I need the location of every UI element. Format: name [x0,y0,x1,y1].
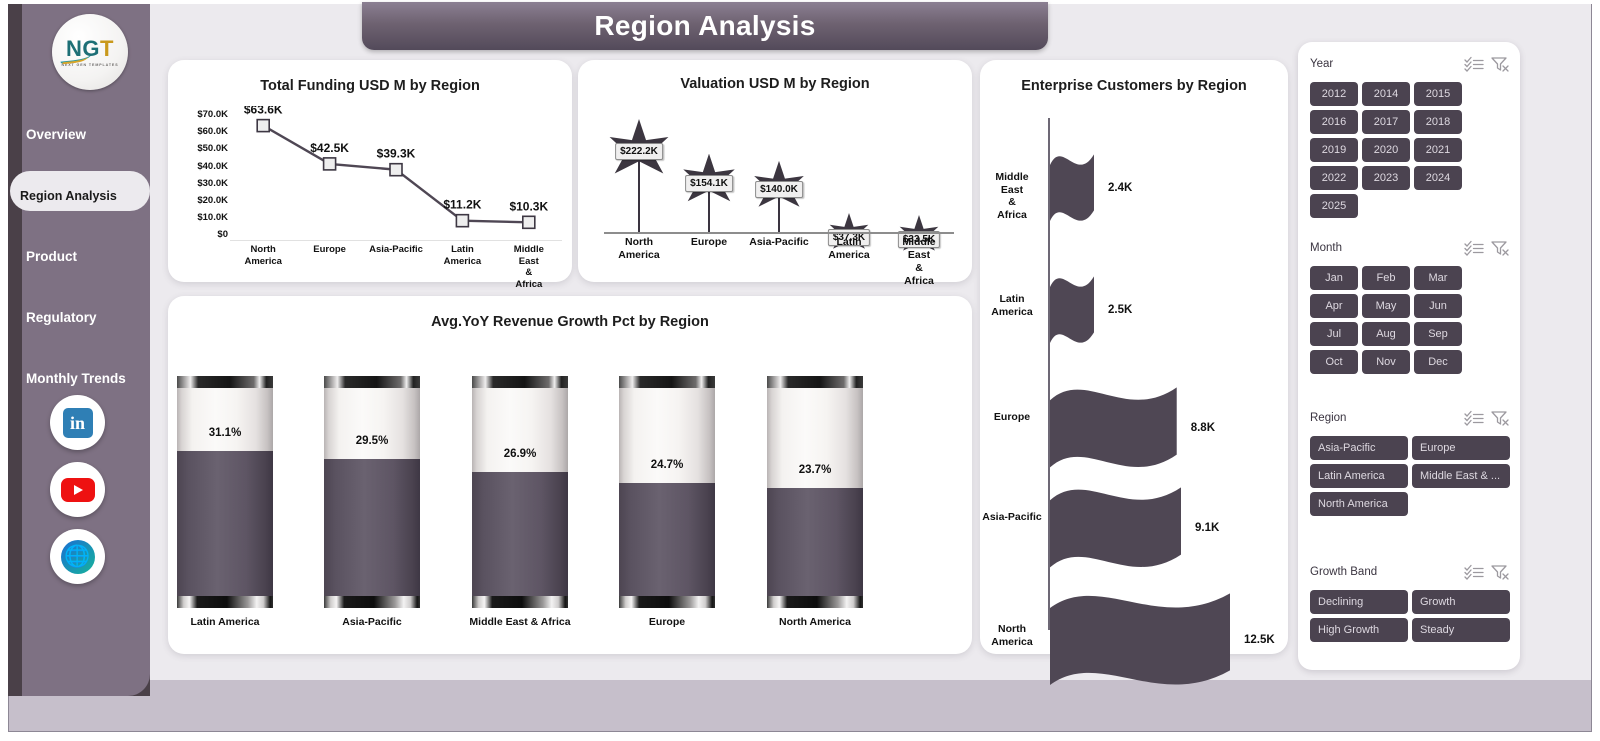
growth-chart-plot: 31.1%Latin America29.5%Asia-Pacific26.9%… [168,354,972,654]
globe-glyph: 🌐 [61,540,95,574]
filter-chip-month[interactable]: Feb [1362,266,1410,290]
flag-bar[interactable] [1050,481,1181,577]
cylinder-cap-bottom [324,596,420,608]
data-label: 29.5% [324,435,420,447]
filter-chip-month[interactable]: Jun [1414,294,1462,318]
linkedin-icon[interactable]: in [50,395,105,450]
cylinder-cap-top [619,376,715,388]
linkedin-glyph: in [63,408,93,438]
slicer-title: Growth Band [1310,566,1458,578]
filter-chip-year[interactable]: 2021 [1414,138,1462,162]
data-label: $11.2K [443,198,481,212]
flag-bar[interactable] [1050,149,1094,229]
category-label: Asia-Pacific [292,616,452,628]
cylinder-fill [324,459,420,608]
data-label: 12.5K [1244,634,1275,646]
flag-bar[interactable] [1050,381,1177,477]
slicer-title: Region [1310,412,1458,424]
chart-title: Avg.YoY Revenue Growth Pct by Region [168,314,972,330]
data-label: 23.7% [767,464,863,476]
cylinder-cap-top [177,376,273,388]
sidebar-item-product[interactable]: Product [0,226,128,287]
line-chart-plot: $63.6K$42.5K$39.3K$11.2K$10.3K [230,106,562,241]
filter-chip-region[interactable]: Europe [1412,436,1510,460]
cylinder-cap-top [767,376,863,388]
logo-letter-g: G [82,36,100,61]
multiselect-icon[interactable] [1464,56,1484,72]
page-title-text: Region Analysis [594,10,815,42]
slicer-month: Month JanFebMarAprMayJunJulAugSepOctNovD… [1310,238,1510,374]
y-tick-label: $0 [176,226,228,243]
x-axis-tick-labels: NorthAmericaEuropeAsia-PacificLatinAmeri… [604,236,954,288]
slicer-title: Year [1310,58,1458,70]
filter-chip-region[interactable]: Asia-Pacific [1310,436,1408,460]
filter-chip-year[interactable]: 2016 [1310,110,1358,134]
filter-chip-band[interactable]: Declining [1310,590,1408,614]
data-label: 8.8K [1191,422,1215,434]
sidebar-nav: Overview Region Analysis Product Regulat… [0,104,128,409]
sidebar-item-label: Product [26,249,77,264]
x-tick-label: MiddleEast&Africa [884,236,954,288]
y-tick-label: $40.0K [176,158,228,175]
x-tick-label: Europe [296,244,362,290]
chart-title: Enterprise Customers by Region [980,78,1288,94]
clear-filter-icon[interactable] [1490,564,1510,580]
data-label: 9.1K [1195,522,1219,534]
category-label: North America [735,616,895,628]
chart-card-yoy-growth: Avg.YoY Revenue Growth Pct by Region 31.… [168,296,972,654]
logo-letter-t: T [100,36,114,61]
slicer-year: Year 20122014201520162017201820192020202… [1310,54,1510,218]
filter-chip-month[interactable]: Mar [1414,266,1462,290]
cylinder-fill [619,483,715,608]
y-tick-label: $50.0K [176,140,228,157]
cylinder-bar[interactable]: 29.5%Asia-Pacific [324,376,420,608]
sidebar-item-region-analysis[interactable]: Region Analysis [0,165,128,226]
category-label: LatinAmerica [980,293,1044,318]
cylinder-cap-bottom [472,596,568,608]
data-label: $10.3K [509,199,548,213]
filter-chip-month[interactable]: Jul [1310,322,1358,346]
category-label: MiddleEast&Africa [980,171,1044,221]
filter-chip-year[interactable]: 2015 [1414,82,1462,106]
data-label: 26.9% [472,448,568,460]
x-tick-label: LatinAmerica [814,236,884,288]
y-tick-label: $70.0K [176,106,228,123]
filter-chip-month[interactable]: May [1362,294,1410,318]
cylinder-bar[interactable]: 23.7%North America [767,376,863,608]
social-links: in 🌐 [50,395,105,584]
data-point-marker[interactable] [390,164,402,176]
x-axis-line [604,232,954,234]
filter-chip-year[interactable]: 2018 [1414,110,1462,134]
slicer-title: Month [1310,242,1458,254]
cylinder-fill [767,488,863,608]
category-label: NorthAmerica [980,623,1044,648]
canvas-bottom-strip [150,680,1591,696]
multiselect-icon[interactable] [1464,240,1484,256]
brand-logo: NGT NEXT GEN TEMPLATES [52,14,128,90]
sidebar-item-regulatory[interactable]: Regulatory [0,287,128,348]
sidebar-item-label: Overview [26,127,86,142]
filter-chip-month[interactable]: Apr [1310,294,1358,318]
filter-chip-year[interactable]: 2017 [1362,110,1410,134]
filter-chip-month[interactable]: Nov [1362,350,1410,374]
cylinder-bar[interactable]: 24.7%Europe [619,376,715,608]
filter-chip-month[interactable]: Sep [1414,322,1462,346]
category-label: Europe [587,616,747,628]
flag-bar[interactable] [1050,586,1230,696]
x-tick-label: LatinAmerica [429,244,495,290]
filter-chip-year[interactable]: 2014 [1362,82,1410,106]
youtube-play-glyph [74,485,83,495]
clear-filter-icon[interactable] [1490,56,1510,72]
filter-chip-region[interactable]: Middle East & ... [1412,464,1510,488]
sidebar-item-label: Monthly Trends [26,371,126,386]
chart-card-valuation: Valuation USD M by Region $222.2K$154.1K… [578,60,972,282]
x-tick-label: Asia-Pacific [363,244,429,290]
data-point-marker[interactable] [324,158,336,170]
data-label: $63.6K [244,106,283,117]
filter-chip-year[interactable]: 2012 [1310,82,1358,106]
data-label: $140.0K [755,181,803,198]
data-label: 2.4K [1108,182,1132,194]
clear-filter-icon[interactable] [1490,240,1510,256]
chart-title: Valuation USD M by Region [578,76,972,92]
cylinder-cap-bottom [767,596,863,608]
filter-chip-band[interactable]: Steady [1412,618,1510,642]
data-point-marker[interactable] [257,120,269,132]
chart-card-enterprise-customers: Enterprise Customers by Region MiddleEas… [980,60,1288,654]
multiselect-icon[interactable] [1464,564,1484,580]
x-tick-label: NorthAmerica [230,244,296,290]
y-tick-label: $10.0K [176,209,228,226]
cylinder-bar[interactable]: 26.9%Middle East & Africa [472,376,568,608]
filter-chip-month[interactable]: Dec [1414,350,1462,374]
filter-chip-region[interactable]: North America [1310,492,1408,516]
filter-chip-year[interactable]: 2020 [1362,138,1410,162]
sidebar-item-label: Region Analysis [20,189,117,203]
y-axis-tick-labels: $70.0K$60.0K$50.0K$40.0K$30.0K$20.0K$10.… [176,106,228,244]
sidebar-item-overview[interactable]: Overview [0,104,128,165]
y-tick-label: $60.0K [176,123,228,140]
data-point-marker[interactable] [456,215,468,227]
filter-chip-month[interactable]: Aug [1362,322,1410,346]
data-label: $39.3K [377,147,416,161]
data-point-marker[interactable] [523,216,535,228]
logo-letter-n: N [66,36,82,61]
cylinder-cap-bottom [619,596,715,608]
flag-bar[interactable] [1050,271,1094,351]
data-label: $154.1K [685,175,733,192]
cylinder-cap-bottom [177,596,273,608]
filter-chip-year[interactable]: 2024 [1414,166,1462,190]
filter-chip-year[interactable]: 2023 [1362,166,1410,190]
multiselect-icon[interactable] [1464,410,1484,426]
filter-chip-year[interactable]: 2025 [1310,194,1358,218]
cylinder-bar[interactable]: 31.1%Latin America [177,376,273,608]
y-tick-label: $30.0K [176,175,228,192]
filter-chip-band[interactable]: Growth [1412,590,1510,614]
filter-chip-month[interactable]: Oct [1310,350,1358,374]
cylinder-cap-top [472,376,568,388]
filter-chip-band[interactable]: High Growth [1310,618,1408,642]
category-label: Latin America [145,616,305,628]
cylinder-cap-top [324,376,420,388]
filter-chip-region[interactable]: Latin America [1310,464,1408,488]
youtube-icon[interactable] [50,462,105,517]
website-icon[interactable]: 🌐 [50,529,105,584]
category-label: Europe [980,411,1044,424]
cylinder-fill [472,472,568,608]
x-axis-tick-labels: NorthAmericaEuropeAsia-PacificLatinAmeri… [230,244,562,290]
data-label: 24.7% [619,459,715,471]
page-title: Region Analysis [362,2,1048,50]
category-label: Asia-Pacific [980,511,1044,524]
dashboard-root: NGT NEXT GEN TEMPLATES Overview Region A… [0,0,1600,741]
x-tick-label: Asia-Pacific [744,236,814,288]
data-label: $42.5K [310,141,349,155]
x-tick-label: NorthAmerica [604,236,674,288]
y-tick-label: $20.0K [176,192,228,209]
filter-chip-month[interactable]: Jan [1310,266,1358,290]
cylinder-fill [177,451,273,608]
chart-card-total-funding: Total Funding USD M by Region $70.0K$60.… [168,60,572,282]
x-tick-label: Europe [674,236,744,288]
clear-filter-icon[interactable] [1490,410,1510,426]
slicer-region: Region Asia-PacificEuropeLatin AmericaMi… [1310,408,1510,516]
data-label: $222.2K [615,143,663,160]
x-tick-label: MiddleEast&Africa [496,244,562,290]
filter-panel: Year 20122014201520162017201820192020202… [1298,42,1520,670]
data-label: 2.5K [1108,304,1132,316]
data-label: 31.1% [177,427,273,439]
sidebar-item-label: Regulatory [26,310,97,325]
category-label: Middle East & Africa [440,616,600,628]
slicer-growth-band: Growth Band DecliningGrowthHigh GrowthSt… [1310,562,1510,642]
filter-chip-year[interactable]: 2022 [1310,166,1358,190]
filter-chip-year[interactable]: 2019 [1310,138,1358,162]
